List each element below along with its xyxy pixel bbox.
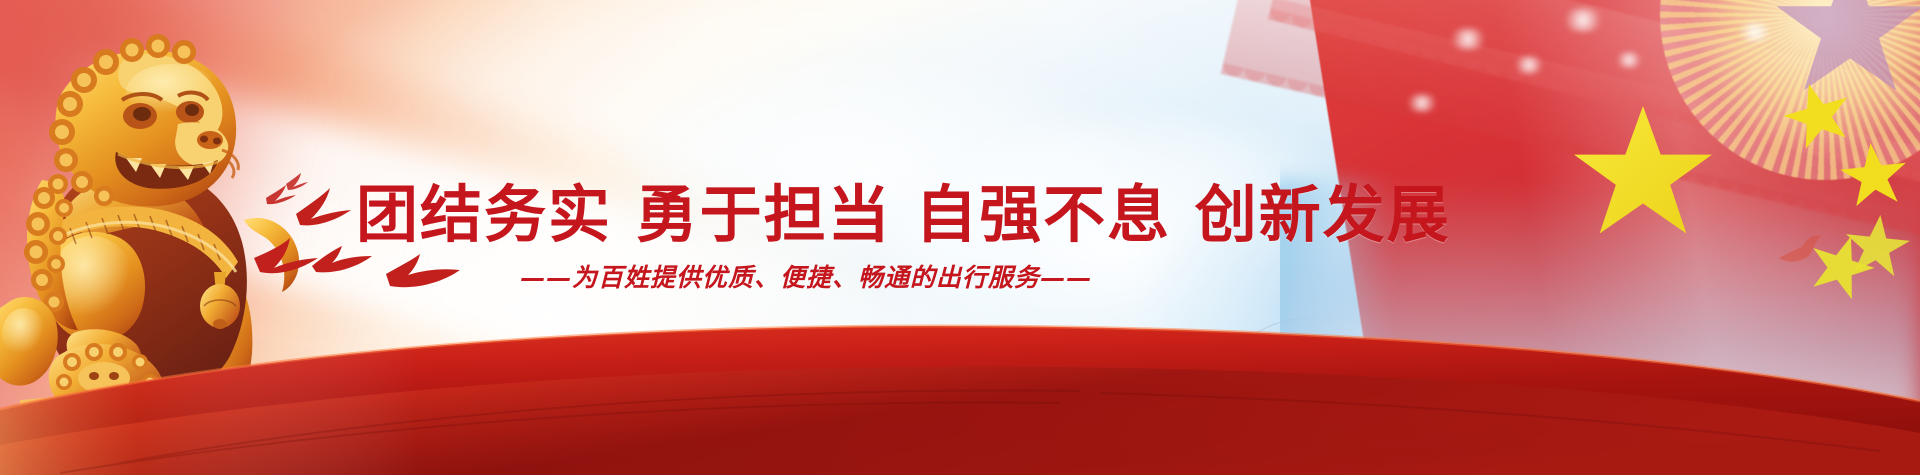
glow-dot-4 (1614, 52, 1644, 68)
banner-subline: ——为百姓提供优质、便捷、畅通的出行服务—— (486, 256, 1126, 296)
banner-root: 团结务实 勇于担当 自强不息 创新发展 ——为百姓提供优质、便捷、畅通的出行服务… (0, 0, 1920, 475)
five-pointed-star-2-icon (1834, 136, 1913, 215)
glow-dot-2 (1560, 8, 1606, 32)
five-pointed-star-large-icon (1568, 100, 1718, 250)
glow-dot-6 (1404, 94, 1440, 112)
glow-dot-3 (1512, 56, 1546, 74)
banner-headline: 团结务实 勇于担当 自强不息 创新发展 (356, 170, 1296, 248)
red-silk-wave (0, 305, 1920, 475)
glow-dot-5 (1735, 22, 1775, 42)
flag-bird-icon (1775, 232, 1827, 272)
glow-dot-1 (1447, 28, 1489, 50)
